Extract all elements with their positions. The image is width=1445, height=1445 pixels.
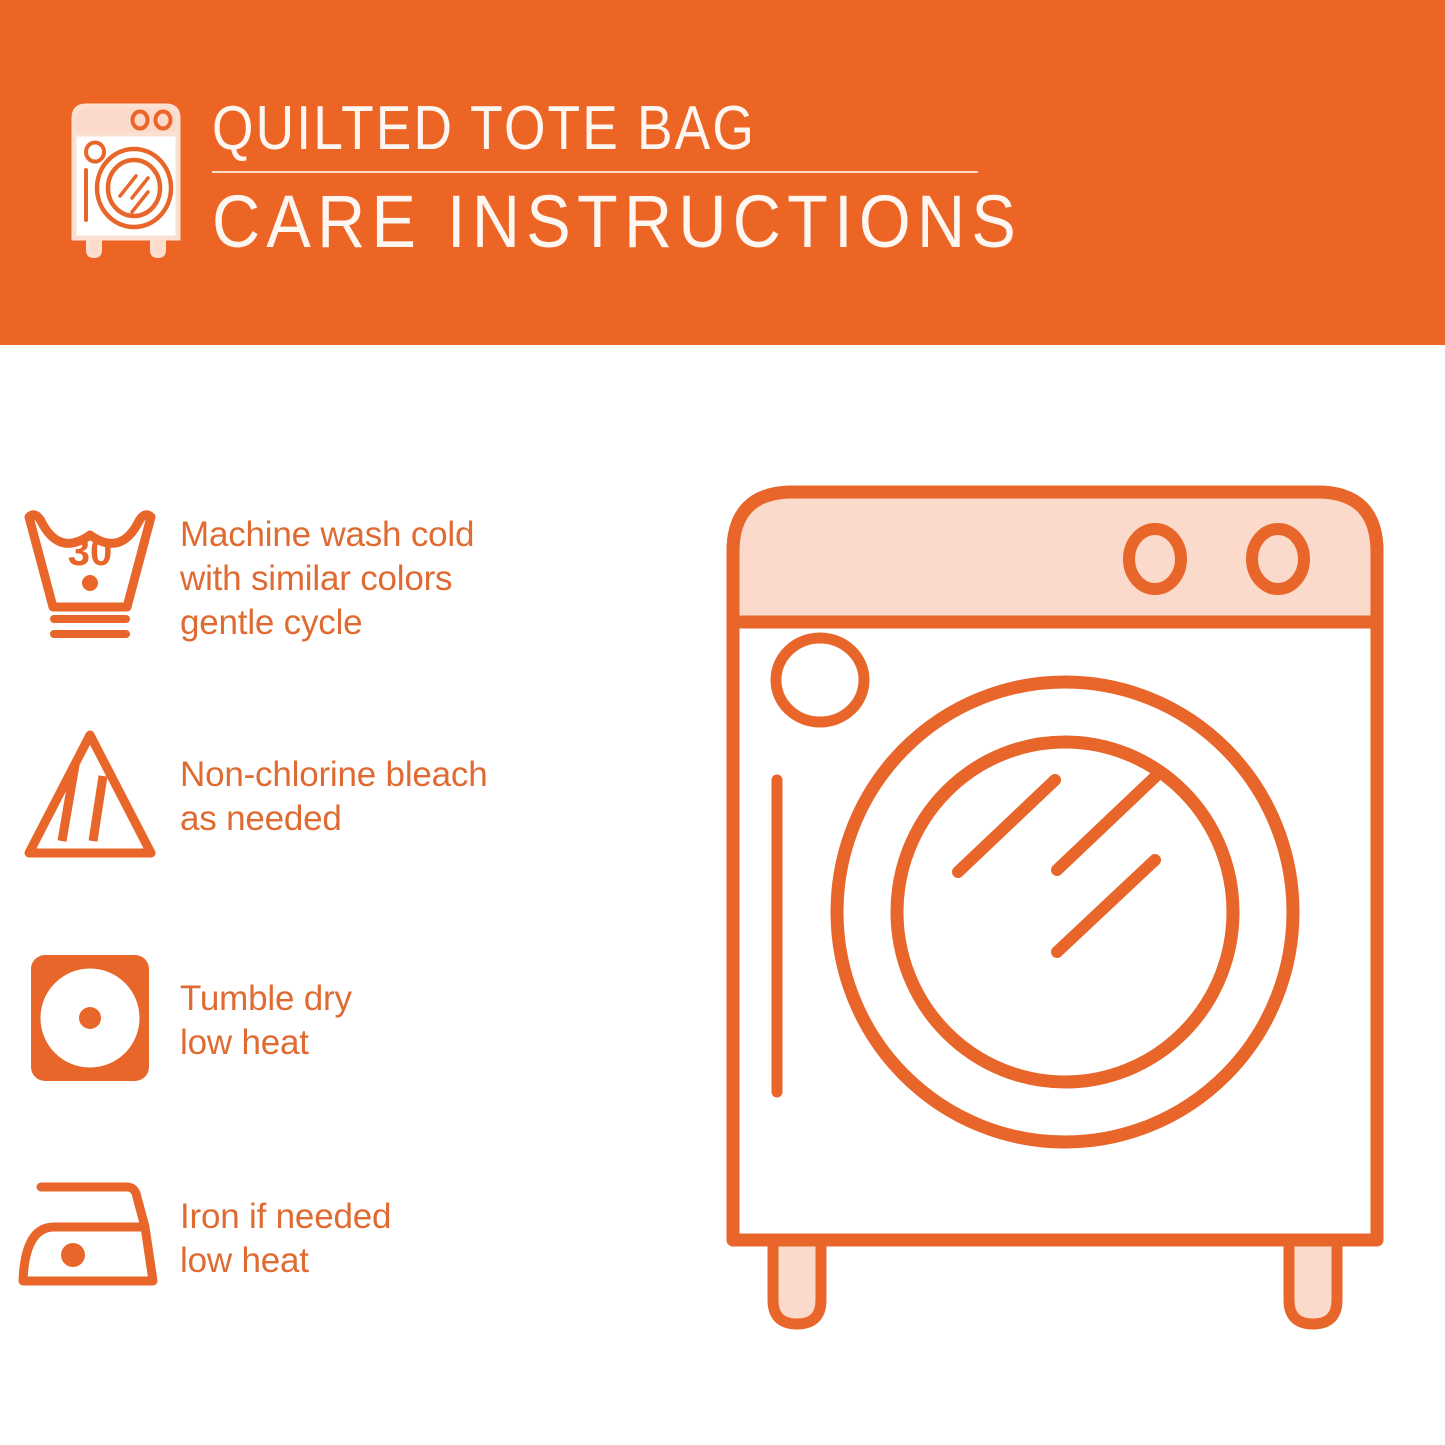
page-title-secondary: CARE INSTRUCTIONS <box>212 182 923 262</box>
care-text-line: Machine wash cold <box>180 513 700 557</box>
wash-temperature-label: 30 <box>68 530 113 574</box>
care-item-iron: Iron if needed low heat <box>0 1157 700 1319</box>
washing-machine-illustration <box>705 462 1405 1382</box>
care-text-line: Tumble dry <box>180 977 700 1021</box>
care-text-line: Iron if needed <box>180 1195 700 1239</box>
care-item-bleach-text: Non-chlorine bleach as needed <box>180 715 700 841</box>
care-text-line: Non-chlorine bleach <box>180 753 700 797</box>
care-item-iron-text: Iron if needed low heat <box>180 1157 700 1283</box>
care-text-line: as needed <box>180 797 700 841</box>
care-item-bleach: Non-chlorine bleach as needed <box>0 715 700 871</box>
care-text-line: low heat <box>180 1021 700 1065</box>
care-item-machine-wash: 30 Machine wash cold with similar colors… <box>0 495 700 645</box>
header-banner: QUILTED TOTE BAG CARE INSTRUCTIONS <box>0 0 1445 345</box>
care-item-tumble-dry-text: Tumble dry low heat <box>180 937 700 1065</box>
care-item-machine-wash-text: Machine wash cold with similar colors ge… <box>180 495 700 645</box>
page-title-primary: QUILTED TOTE BAG <box>212 96 891 162</box>
machine-wash-30-gentle-symbol: 30 <box>0 495 180 645</box>
care-instruction-list: 30 Machine wash cold with similar colors… <box>0 345 700 1445</box>
care-item-tumble-dry: Tumble dry low heat <box>0 937 700 1093</box>
iron-low-heat-symbol <box>0 1157 180 1319</box>
control-panel <box>733 492 1377 622</box>
care-text-line: low heat <box>180 1239 700 1283</box>
washing-machine-icon <box>62 100 190 260</box>
care-text-line: with similar colors <box>180 557 700 601</box>
tumble-dry-low-symbol <box>0 937 180 1093</box>
non-chlorine-bleach-symbol <box>0 715 180 871</box>
care-text-line: gentle cycle <box>180 601 700 645</box>
title-divider <box>212 171 978 173</box>
header-title-block: QUILTED TOTE BAG CARE INSTRUCTIONS <box>212 96 1002 262</box>
